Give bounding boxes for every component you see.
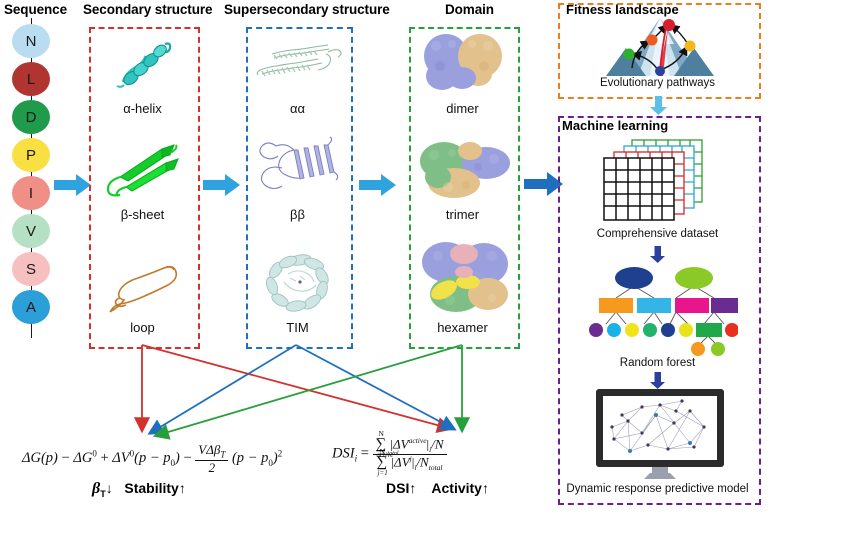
- column-header-sequence: Sequence: [4, 2, 67, 17]
- machine-learning-title: Machine learning: [562, 118, 668, 133]
- activity-outcome-label: Activity: [431, 480, 482, 496]
- forest-leaf-7: [696, 323, 722, 337]
- tim-barrel-ribbon-icon: [254, 248, 342, 318]
- stability-frac-num-sub: T: [220, 450, 225, 460]
- dsi-num-body: |ΔV: [389, 436, 408, 451]
- fitness-yellow-node: [685, 41, 696, 52]
- stability-op-3: −: [183, 450, 191, 466]
- secondary-item-label-beta-sheet: β-sheet: [89, 207, 196, 222]
- forest-root-1: [615, 267, 653, 289]
- process-arrow-sequence-to-secondary: [54, 172, 92, 198]
- dsi-num-body-sup: active: [409, 436, 427, 445]
- dsi-den-sum-sup: N: [380, 448, 385, 456]
- process-arrow-secondary-to-supersecondary: [203, 172, 241, 198]
- forest-node-blue: [637, 298, 671, 313]
- fitness-landscape-illustration: [600, 14, 720, 80]
- forest-leaf-8: [725, 323, 738, 337]
- secondary-item-label-alpha-helix: α-helix: [89, 101, 196, 116]
- residue-label: V: [26, 223, 36, 240]
- stability-term-4: (p − p: [134, 450, 170, 466]
- supersecondary-item-label-alpha-alpha: αα: [246, 101, 349, 116]
- dsi-up-arrow: ↑: [409, 480, 416, 496]
- dynamic-response-model-monitor: [594, 387, 726, 483]
- stability-equation: ΔG(p) − ΔG0 + ΔV0(p − p0) − VΔβT 2 (p − …: [22, 443, 282, 475]
- forest-leaf-5: [661, 323, 675, 337]
- stability-term-1: ΔG(p): [22, 450, 58, 466]
- dsi-equals: =: [361, 446, 369, 462]
- residue-label: N: [26, 33, 37, 50]
- residue-N: N: [12, 24, 50, 58]
- beta-sheet-ribbon-icon: [100, 141, 186, 199]
- dsi-den-sum-sub: j=1: [378, 470, 388, 477]
- stability-term-5-sup: 2: [278, 448, 283, 458]
- stability-frac-num-text: VΔβ: [198, 442, 220, 457]
- arrow-domain-to-stability: [158, 345, 462, 435]
- supersecondary-item-label-beta-beta: ββ: [246, 207, 349, 222]
- residue-label: I: [29, 185, 33, 202]
- dsi-lhs: DSI: [332, 446, 355, 462]
- residue-label: P: [26, 147, 36, 164]
- residue-A: A: [12, 290, 50, 324]
- arrow-fitness-to-machine-learning: [650, 96, 668, 116]
- forest-leaf-1: [589, 323, 603, 337]
- activity-up-arrow: ↑: [482, 480, 489, 496]
- beta-t-symbol: β: [92, 480, 100, 497]
- stability-fraction-numerator: VΔβT: [195, 443, 228, 461]
- stability-fraction: VΔβT 2: [195, 443, 228, 475]
- dsi-den-sum-symbol: ∑: [377, 454, 388, 470]
- dsi-lhs-sub: i: [355, 454, 358, 464]
- residue-P: P: [12, 138, 50, 172]
- arrow-dataset-to-random-forest: [650, 246, 666, 264]
- dimer-surface-icon: [418, 30, 510, 96]
- mapping-arrows: [0, 340, 560, 445]
- beta-beta-ribbon-icon: [252, 134, 344, 200]
- forest-leaf-4: [643, 323, 657, 337]
- forest-leaf-2: [607, 323, 621, 337]
- forest-node-purple: [711, 298, 738, 313]
- forest-node-orange: [599, 298, 633, 313]
- domain-item-label-hexamer: hexamer: [409, 320, 516, 335]
- dsi-equation: DSIi = ∑Nactive |ΔVactive|i/N ∑Ntotalj=1…: [332, 437, 447, 472]
- fitness-start-node: [655, 66, 665, 76]
- residue-label: S: [26, 261, 36, 278]
- residue-label: A: [26, 299, 36, 316]
- forest-root-2: [675, 267, 713, 289]
- alpha-alpha-ribbon-icon: [254, 38, 344, 86]
- forest-leaf-3: [625, 323, 639, 337]
- secondary-item-label-loop: loop: [89, 320, 196, 335]
- random-forest-caption: Random forest: [558, 357, 757, 369]
- forest-node-magenta: [675, 298, 709, 313]
- loop-ribbon-icon: [104, 262, 184, 318]
- dsi-outcome: DSI↑ Activity↑: [386, 480, 489, 496]
- residue-label: L: [27, 71, 35, 88]
- stability-op-2: +: [100, 450, 108, 466]
- dsi-num-sum-sup: N: [379, 430, 384, 438]
- residue-S: S: [12, 252, 50, 286]
- column-header-supersecondary: Supersecondary structure: [224, 2, 390, 17]
- fitness-green-node: [624, 49, 635, 60]
- dsi-den-divider-sub: total: [429, 463, 443, 472]
- residue-label: D: [26, 109, 37, 126]
- forest-leaf-6: [679, 323, 693, 337]
- residue-L: L: [12, 62, 50, 96]
- dsi-denominator: ∑Ntotalj=1 |ΔVj|i/Ntotal: [373, 455, 447, 472]
- forest-leaf-10: [711, 342, 725, 356]
- stability-term-2-sup: 0: [92, 448, 97, 458]
- domain-item-label-trimer: trimer: [409, 207, 516, 222]
- dsi-num-divider: /N: [431, 436, 443, 451]
- stability-term-2: ΔG: [73, 450, 92, 466]
- stability-up-arrow: ↑: [179, 480, 186, 496]
- dsi-den-divider: /N: [416, 454, 428, 469]
- sequence-chain: N L D P I V S A: [8, 18, 56, 338]
- stability-outcome: βT↓ Stability↑: [92, 480, 186, 499]
- column-header-secondary: Secondary structure: [83, 2, 212, 17]
- stability-term-5: (p − p: [232, 450, 268, 466]
- fitness-orange-node: [647, 35, 658, 46]
- arrow-supersecondary-to-stability: [152, 345, 296, 432]
- stability-fraction-denominator: 2: [195, 461, 228, 475]
- alpha-helix-ribbon-icon: [103, 38, 183, 90]
- fitness-peak-node: [663, 19, 675, 31]
- supersecondary-item-label-tim: TIM: [246, 320, 349, 335]
- hexamer-surface-icon: [418, 238, 512, 318]
- residue-D: D: [12, 100, 50, 134]
- dsi-den-sum-sup-sub: total: [388, 451, 399, 457]
- dsi-fraction: ∑Nactive |ΔVactive|i/N ∑Ntotalj=1 |ΔVj|i…: [373, 437, 447, 472]
- stability-outcome-label: Stability: [124, 480, 178, 496]
- stability-term-3: ΔV: [112, 450, 129, 466]
- dsi-outcome-label: DSI: [386, 480, 409, 496]
- stability-paren-1: ): [175, 450, 180, 466]
- residue-I: I: [12, 176, 50, 210]
- comprehensive-dataset-illustration: [598, 136, 724, 226]
- stability-op-1: −: [62, 450, 70, 466]
- forest-leaf-9: [691, 342, 705, 356]
- arrow-secondary-to-dsi: [142, 345, 448, 428]
- random-forest-illustration: [582, 264, 738, 356]
- residue-V: V: [12, 214, 50, 248]
- process-arrow-supersecondary-to-domain: [359, 172, 397, 198]
- beta-t-down-arrow: ↓: [106, 480, 113, 496]
- comprehensive-dataset-caption: Comprehensive dataset: [558, 228, 757, 240]
- evolutionary-pathways-caption: Evolutionary pathways: [558, 77, 757, 89]
- trimer-surface-icon: [414, 135, 514, 203]
- domain-item-label-dimer: dimer: [409, 101, 516, 116]
- dynamic-response-model-caption: Dynamic response predictive model: [558, 483, 757, 495]
- column-header-domain: Domain: [445, 2, 494, 17]
